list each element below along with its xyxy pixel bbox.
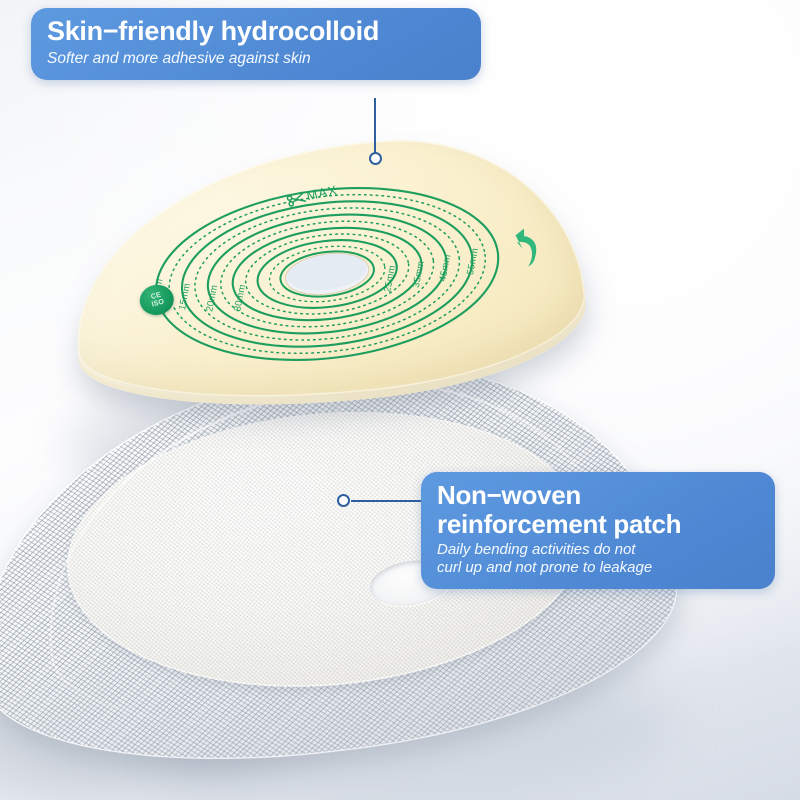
leader-marker-nonwoven [337, 494, 350, 507]
cut-guide-max-label: MAX [305, 182, 339, 203]
leader-line-hydrocolloid [374, 98, 376, 156]
callout-hydrocolloid-subtitle: Softer and more adhesive against skin [47, 50, 465, 69]
callout-nonwoven-title: Non−woven reinforcement patch [437, 481, 759, 538]
leader-line-nonwoven [351, 500, 423, 502]
size-label-right-2: 35mm [411, 260, 427, 289]
brand-badge-text: CE ISO [149, 291, 165, 309]
size-label-left-4: 30mm [232, 283, 248, 312]
callout-nonwoven-subtitle: Daily bending activities do not curl up … [437, 541, 759, 578]
size-label-left-2: 15mm [177, 282, 193, 311]
callout-nonwoven[interactable]: Non−woven reinforcement patch Daily bend… [421, 472, 775, 589]
size-label-right-4: 55mm [465, 247, 481, 276]
wafer-center-hole [282, 248, 372, 300]
product-infographic-canvas: MAX 10mm 15mm 20mm 30mm 25mm 35mm 45mm 5… [0, 0, 800, 800]
callout-hydrocolloid-title: Skin−friendly hydrocolloid [47, 17, 465, 47]
size-label-right-3: 45mm [437, 253, 453, 282]
curved-peel-arrow-icon [501, 222, 551, 276]
hydrocolloid-wafer: MAX 10mm 15mm 20mm 30mm 25mm 35mm 45mm 5… [62, 124, 592, 419]
leader-marker-hydrocolloid [369, 152, 382, 165]
callout-hydrocolloid[interactable]: Skin−friendly hydrocolloid Softer and mo… [31, 8, 481, 80]
